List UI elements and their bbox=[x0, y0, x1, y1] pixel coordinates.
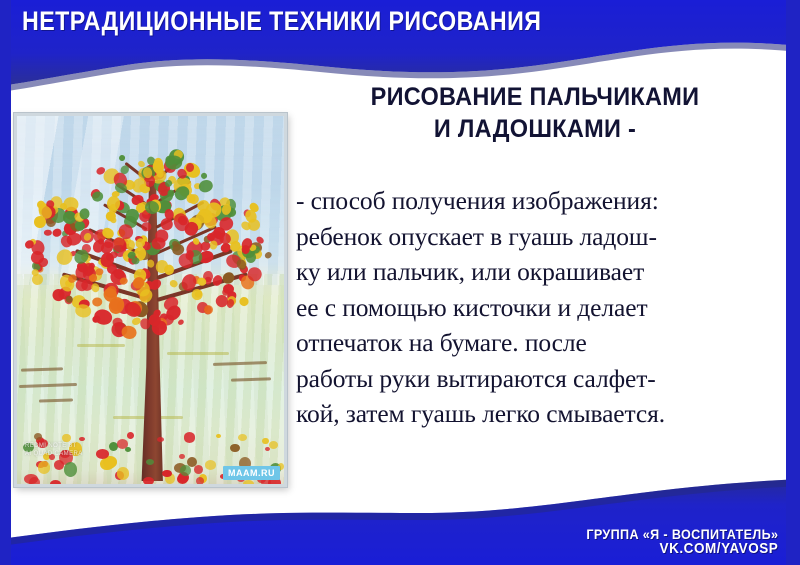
fallen-leaf bbox=[216, 434, 221, 439]
frame-border-right bbox=[786, 0, 800, 565]
fingerprint-leaf bbox=[207, 232, 215, 240]
fallen-leaf bbox=[143, 477, 154, 484]
ground-stroke bbox=[213, 361, 267, 366]
technique-description: - способ получения изображения: ребенок … bbox=[296, 183, 788, 432]
fingerprint-leaf bbox=[226, 298, 235, 308]
artwork-photo: REDMI NOTE 8T AI QUAD CAMERA MAAM.RU bbox=[14, 113, 287, 487]
fallen-leaf bbox=[29, 477, 41, 485]
fingerprint-leaf bbox=[74, 304, 91, 319]
fingerprint-leaf bbox=[121, 324, 138, 340]
fallen-leaf bbox=[238, 434, 247, 441]
fingerprint-leaf bbox=[245, 252, 257, 265]
description-line: ку или пальчик, или окрашивает bbox=[296, 254, 788, 290]
camera-watermark-line-2: AI QUAD CAMERA bbox=[25, 450, 83, 458]
grass-stroke bbox=[77, 344, 125, 347]
grass-stroke bbox=[167, 352, 229, 355]
fallen-leaf bbox=[180, 465, 191, 476]
frame-border-left bbox=[0, 0, 11, 565]
description-line: отпечаток на бумаге. после bbox=[296, 325, 788, 361]
slide-canvas: НЕТРАДИЦИОННЫЕ ТЕХНИКИ РИСОВАНИЯ ГРУППА … bbox=[0, 0, 800, 565]
fallen-leaf bbox=[104, 459, 115, 469]
fallen-leaf bbox=[64, 462, 78, 477]
footer-group-name: ГРУППА «Я - ВОСПИТАТЕЛЬ» bbox=[586, 527, 778, 542]
fallen-leaf bbox=[230, 444, 240, 452]
camera-watermark-line-1: REDMI NOTE 8T bbox=[25, 442, 83, 450]
fallen-leaf bbox=[265, 447, 270, 452]
fingerprint-leaf bbox=[264, 251, 273, 260]
fingerprint-leaf bbox=[52, 227, 63, 237]
fingerprint-leaf bbox=[118, 154, 126, 162]
fingerprint-leaf bbox=[178, 319, 186, 326]
fallen-leaf bbox=[262, 438, 268, 445]
description-line: ребенок опускает в гуашь ладош- bbox=[296, 219, 788, 255]
description-line: кой, затем гуашь легко смывается. bbox=[296, 396, 788, 432]
fallen-leaf bbox=[179, 454, 185, 460]
ground-stroke bbox=[21, 367, 63, 371]
fallen-leaf bbox=[79, 437, 85, 441]
fingerprint-leaf bbox=[92, 297, 102, 306]
fingerprint-leaf bbox=[190, 288, 205, 302]
fallen-leaf bbox=[205, 460, 216, 469]
description-line: ее с помощью кисточки и делает bbox=[296, 290, 788, 326]
footer-credit: ГРУППА «Я - ВОСПИТАТЕЛЬ» VK.COM/YAVOSP bbox=[565, 527, 778, 557]
fallen-leaf bbox=[50, 480, 62, 484]
fingerprint-leaf bbox=[220, 270, 236, 286]
fingerprint-leaf bbox=[238, 296, 250, 308]
fingerprint-leaf bbox=[197, 178, 214, 193]
fallen-leaf bbox=[184, 432, 196, 443]
fallen-leaf bbox=[157, 437, 164, 442]
artwork-canvas: REDMI NOTE 8T AI QUAD CAMERA MAAM.RU bbox=[17, 116, 284, 484]
maam-badge[interactable]: MAAM.RU bbox=[223, 466, 280, 480]
fallen-leaf bbox=[125, 447, 131, 452]
fingerprint-leaf bbox=[111, 317, 122, 327]
description-line: работы руки вытираются салфет- bbox=[296, 361, 788, 397]
description-line: - способ получения изображения: bbox=[296, 183, 788, 219]
fingerprint-leaf bbox=[165, 155, 182, 169]
ground-stroke bbox=[19, 383, 77, 388]
heading-line-1: РИСОВАНИЕ ПАЛЬЧИКАМИ bbox=[314, 82, 756, 114]
footer-vk-url[interactable]: VK.COM/YAVOSP bbox=[586, 541, 778, 557]
fallen-leaf bbox=[146, 459, 154, 465]
fallen-leaf bbox=[127, 432, 134, 439]
camera-watermark: REDMI NOTE 8T AI QUAD CAMERA bbox=[25, 442, 83, 458]
fingerprint-leaf bbox=[79, 208, 90, 220]
fallen-leaf bbox=[194, 465, 203, 474]
fingerprint-leaf bbox=[44, 229, 52, 235]
fallen-leaf bbox=[117, 467, 130, 480]
fingerprint-leaf bbox=[167, 190, 174, 197]
heading-line-2: И ЛАДОШКАМИ - bbox=[314, 114, 756, 146]
ground-stroke bbox=[231, 377, 271, 381]
fingerprint-leaf bbox=[168, 278, 178, 288]
page-title: НЕТРАДИЦИОННЫЕ ТЕХНИКИ РИСОВАНИЯ bbox=[22, 8, 541, 35]
technique-heading: РИСОВАНИЕ ПАЛЬЧИКАМИ И ЛАДОШКАМИ - bbox=[314, 82, 756, 145]
ground-stroke bbox=[39, 398, 73, 402]
fallen-leaf bbox=[243, 480, 254, 484]
fallen-leaf bbox=[38, 461, 51, 474]
fingerprint-leaf bbox=[91, 191, 104, 203]
fallen-leaf bbox=[196, 477, 204, 484]
